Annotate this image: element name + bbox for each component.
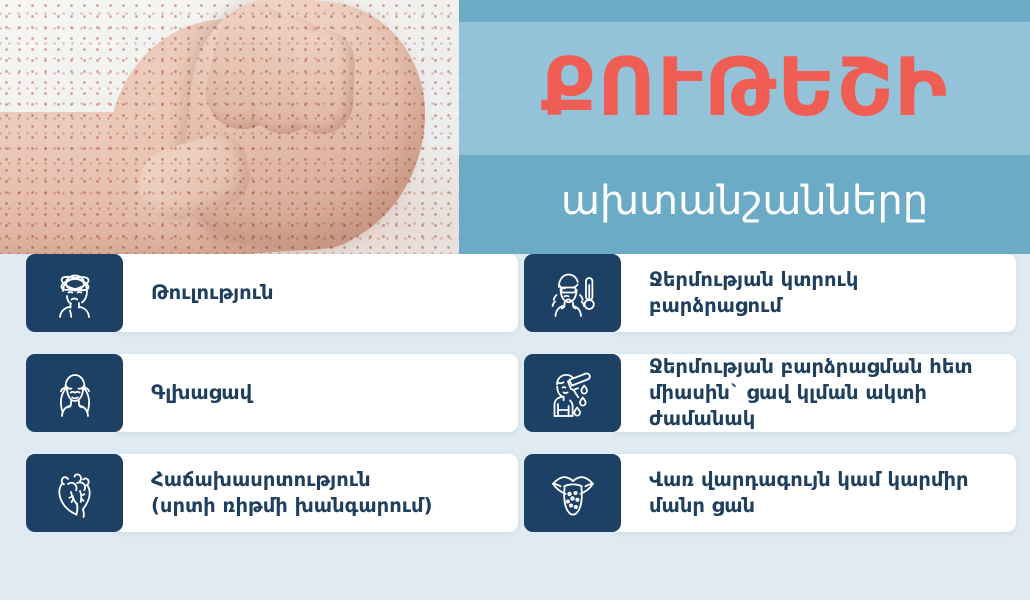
list-item-body: Հաճախասրտություն (սրտի ռիթմի խանգարում) <box>117 454 518 532</box>
symptom-label: Թուլություն <box>151 280 274 306</box>
list-item[interactable]: Հաճախասրտություն (սրտի ռիթմի խանգարում) <box>26 454 518 532</box>
list-item[interactable]: Վառ վարդագույն կամ կարմիր մանր ցան <box>524 454 1016 532</box>
list-item-body: Ջերմության կտրուկ բարձրացում <box>615 254 1016 332</box>
symptom-label-line1: Գլխացավ <box>151 381 252 404</box>
symptom-label-line1: Թուլություն <box>151 281 274 304</box>
infographic-page: ՔՈՒԹԵՇԻ ախտանշանները <box>0 0 1030 600</box>
symptom-label-line1: Ջերմության բարձրացման հետ <box>649 355 973 378</box>
dizzy-person-icon <box>26 254 123 332</box>
rash-speckle-overlay <box>0 0 459 254</box>
symptom-label-line2: միասին` ցավ կլման ակտի ժամանակ <box>649 380 994 433</box>
page-title: ՔՈՒԹԵՇԻ <box>459 24 1030 152</box>
page-subtitle: ախտանշանները <box>459 155 1030 247</box>
header-banner: ՔՈՒԹԵՇԻ ախտանշանները <box>0 0 1030 254</box>
symptom-label: Ջերմության կտրուկ բարձրացում <box>649 267 994 320</box>
symptom-list: Թուլություն <box>0 254 1030 600</box>
symptom-label-line2: (սրտի ռիթմի խանգարում) <box>151 493 433 519</box>
headache-person-icon <box>26 354 123 432</box>
symptom-label: Վառ վարդագույն կամ կարմիր մանր ցան <box>649 467 969 520</box>
symptom-label-line2: մանր ցան <box>649 493 969 519</box>
symptom-label-line1: Հաճախասրտություն <box>151 468 371 491</box>
symptom-label: Հաճախասրտություն (սրտի ռիթմի խանգարում) <box>151 467 433 520</box>
symptom-label-line1: Վառ վարդագույն կամ կարմիր <box>649 468 969 491</box>
list-item[interactable]: Թուլություն <box>26 254 518 332</box>
symptom-column-right: Ջերմության կտրուկ բարձրացում <box>524 254 1016 554</box>
list-item[interactable]: Ջերմության կտրուկ բարձրացում <box>524 254 1016 332</box>
list-item[interactable]: Ջերմության բարձրացման հետ միասին` ցավ կլ… <box>524 354 1016 432</box>
fever-thermometer-icon <box>524 254 621 332</box>
list-item-body: Թուլություն <box>117 254 518 332</box>
symptom-label-line1: Ջերմության կտրուկ բարձրացում <box>649 268 858 317</box>
band-top <box>459 0 1030 22</box>
list-item-body: Ջերմության բարձրացման հետ միասին` ցավ կլ… <box>615 354 1016 432</box>
title-block: ՔՈՒԹԵՇԻ ախտանշանները <box>459 0 1030 254</box>
symptom-label: Գլխացավ <box>151 380 252 406</box>
hands-with-rash-photo <box>0 0 459 254</box>
list-item-body: Գլխացավ <box>117 354 518 432</box>
symptom-column-left: Թուլություն <box>26 254 518 554</box>
anatomical-heart-icon <box>26 454 123 532</box>
spotted-tongue-icon <box>524 454 621 532</box>
symptom-label: Ջերմության բարձրացման հետ միասին` ցավ կլ… <box>649 354 994 433</box>
drinking-person-icon <box>524 354 621 432</box>
list-item-body: Վառ վարդագույն կամ կարմիր մանր ցան <box>615 454 1016 532</box>
list-item[interactable]: Գլխացավ <box>26 354 518 432</box>
